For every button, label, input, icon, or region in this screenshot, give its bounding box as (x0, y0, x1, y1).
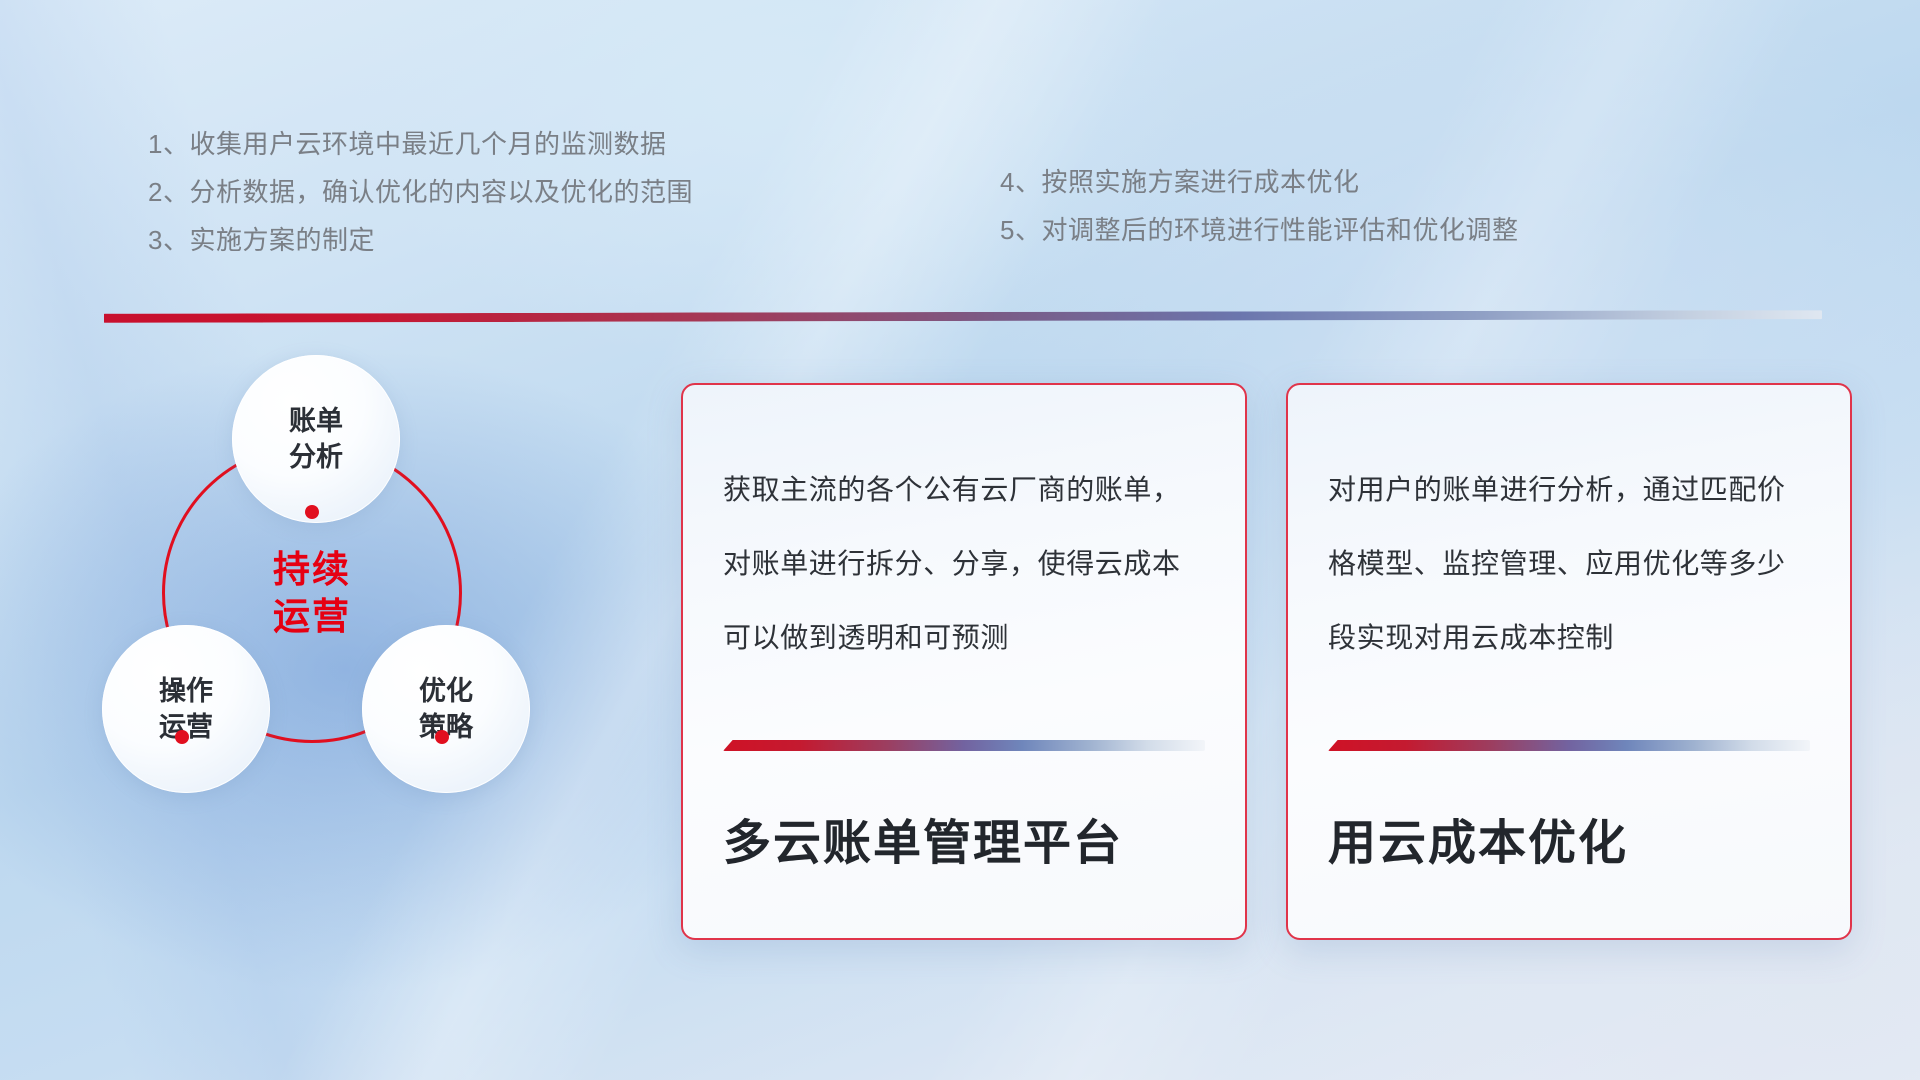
bullet-list-right: 4、按照实施方案进行成本优化 5、对调整后的环境进行性能评估和优化调整 (1000, 158, 1518, 254)
card-2-body-text: 对用户的账单进行分析，通过匹配价格模型、监控管理、应用优化等多少段实现对用云成本… (1328, 453, 1814, 675)
bubble-top-line-1: 账单 (289, 403, 343, 439)
card-cloud-cost-optimization[interactable]: 对用户的账单进行分析，通过匹配价格模型、监控管理、应用优化等多少段实现对用云成本… (1286, 383, 1852, 940)
bullet-item-2: 2、分析数据，确认优化的内容以及优化的范围 (148, 168, 693, 216)
card-1-divider (723, 740, 1205, 751)
bubble-right-line-1: 优化 (419, 673, 473, 709)
card-1-body-text: 获取主流的各个公有云厂商的账单，对账单进行拆分、分享，使得云成本可以做到透明和可… (723, 453, 1209, 675)
bubble-top-line-2: 分析 (289, 439, 343, 475)
ring-node-dot-top (305, 505, 319, 519)
bubble-optimization-strategy[interactable]: 优化 策略 (362, 625, 530, 793)
bullet-item-4: 4、按照实施方案进行成本优化 (1000, 158, 1518, 206)
card-2-title: 用云成本优化 (1328, 803, 1814, 873)
card-1-title: 多云账单管理平台 (723, 803, 1209, 873)
bubble-bill-analysis[interactable]: 账单 分析 (232, 355, 400, 523)
bullet-item-3: 3、实施方案的制定 (148, 216, 693, 264)
bubble-left-line-1: 操作 (159, 673, 213, 709)
ring-node-dot-right (435, 730, 449, 744)
slide-canvas: 1、收集用户云环境中最近几个月的监测数据 2、分析数据，确认优化的内容以及优化的… (0, 0, 1920, 1080)
card-2-divider (1328, 740, 1810, 751)
bubble-operations[interactable]: 操作 运营 (102, 625, 270, 793)
bullet-list-left: 1、收集用户云环境中最近几个月的监测数据 2、分析数据，确认优化的内容以及优化的… (148, 120, 693, 264)
bullet-item-1: 1、收集用户云环境中最近几个月的监测数据 (148, 120, 693, 168)
card-multicloud-billing-platform[interactable]: 获取主流的各个公有云厂商的账单，对账单进行拆分、分享，使得云成本可以做到透明和可… (681, 383, 1247, 940)
bullet-item-5: 5、对调整后的环境进行性能评估和优化调整 (1000, 206, 1518, 254)
header-divider-rule (104, 310, 1822, 323)
ring-node-dot-left (175, 730, 189, 744)
venn-diagram: 持续 运营 账单 分析 操作 运营 优化 策略 (100, 355, 620, 935)
